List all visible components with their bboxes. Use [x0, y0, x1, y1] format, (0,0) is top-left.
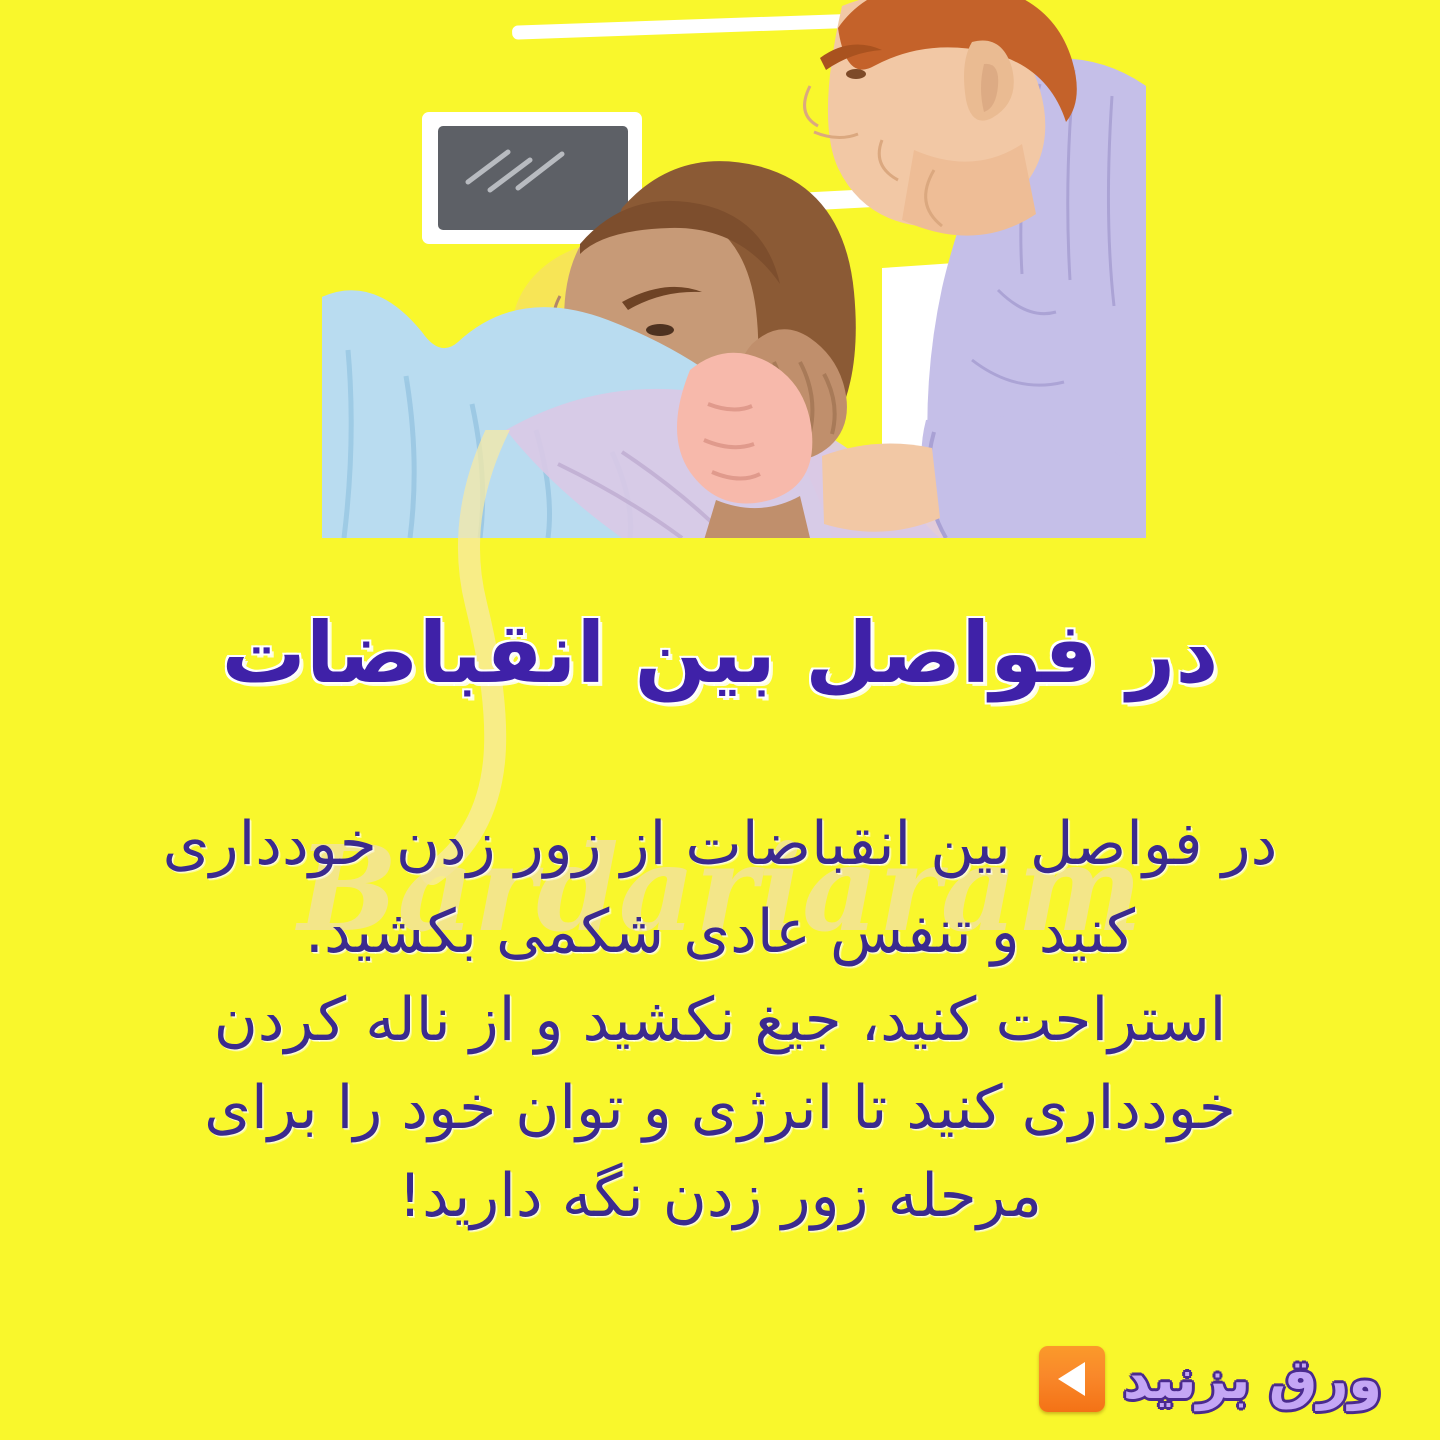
page-title-text: در فواصل بین انقباضات: [222, 604, 1219, 702]
body-line: خودداری کنید تا انرژی و توان خود را برای: [70, 1064, 1370, 1152]
body-line: مرحله زور زدن نگه دارید!: [70, 1152, 1370, 1240]
page-title: در فواصل بین انقباضات: [0, 604, 1440, 702]
body-line: در فواصل بین انقباضات از زور زدن خودداری: [70, 800, 1370, 888]
play-icon[interactable]: [1039, 1346, 1105, 1412]
body-line: استراحت کنید، جیغ نکشید و از ناله کردن: [70, 976, 1370, 1064]
partner-forearm: [822, 444, 940, 532]
play-triangle-glyph: [1058, 1362, 1085, 1396]
body-line: کنید و تنفس عادی شکمی بکشید.: [70, 888, 1370, 976]
partner-eye: [846, 69, 866, 79]
woman-eye: [646, 324, 674, 336]
illustration-svg: [322, 0, 1146, 538]
body-paragraph: در فواصل بین انقباضات از زور زدن خودداری…: [70, 800, 1370, 1240]
swipe-cta-label[interactable]: ورق بزنید: [1123, 1348, 1382, 1411]
slide-root: Bardariaram در فواصل بین انقباضات در فوا…: [0, 0, 1440, 1440]
illustration-photo: [322, 0, 1146, 538]
swipe-cta[interactable]: ورق بزنید: [1039, 1346, 1382, 1412]
